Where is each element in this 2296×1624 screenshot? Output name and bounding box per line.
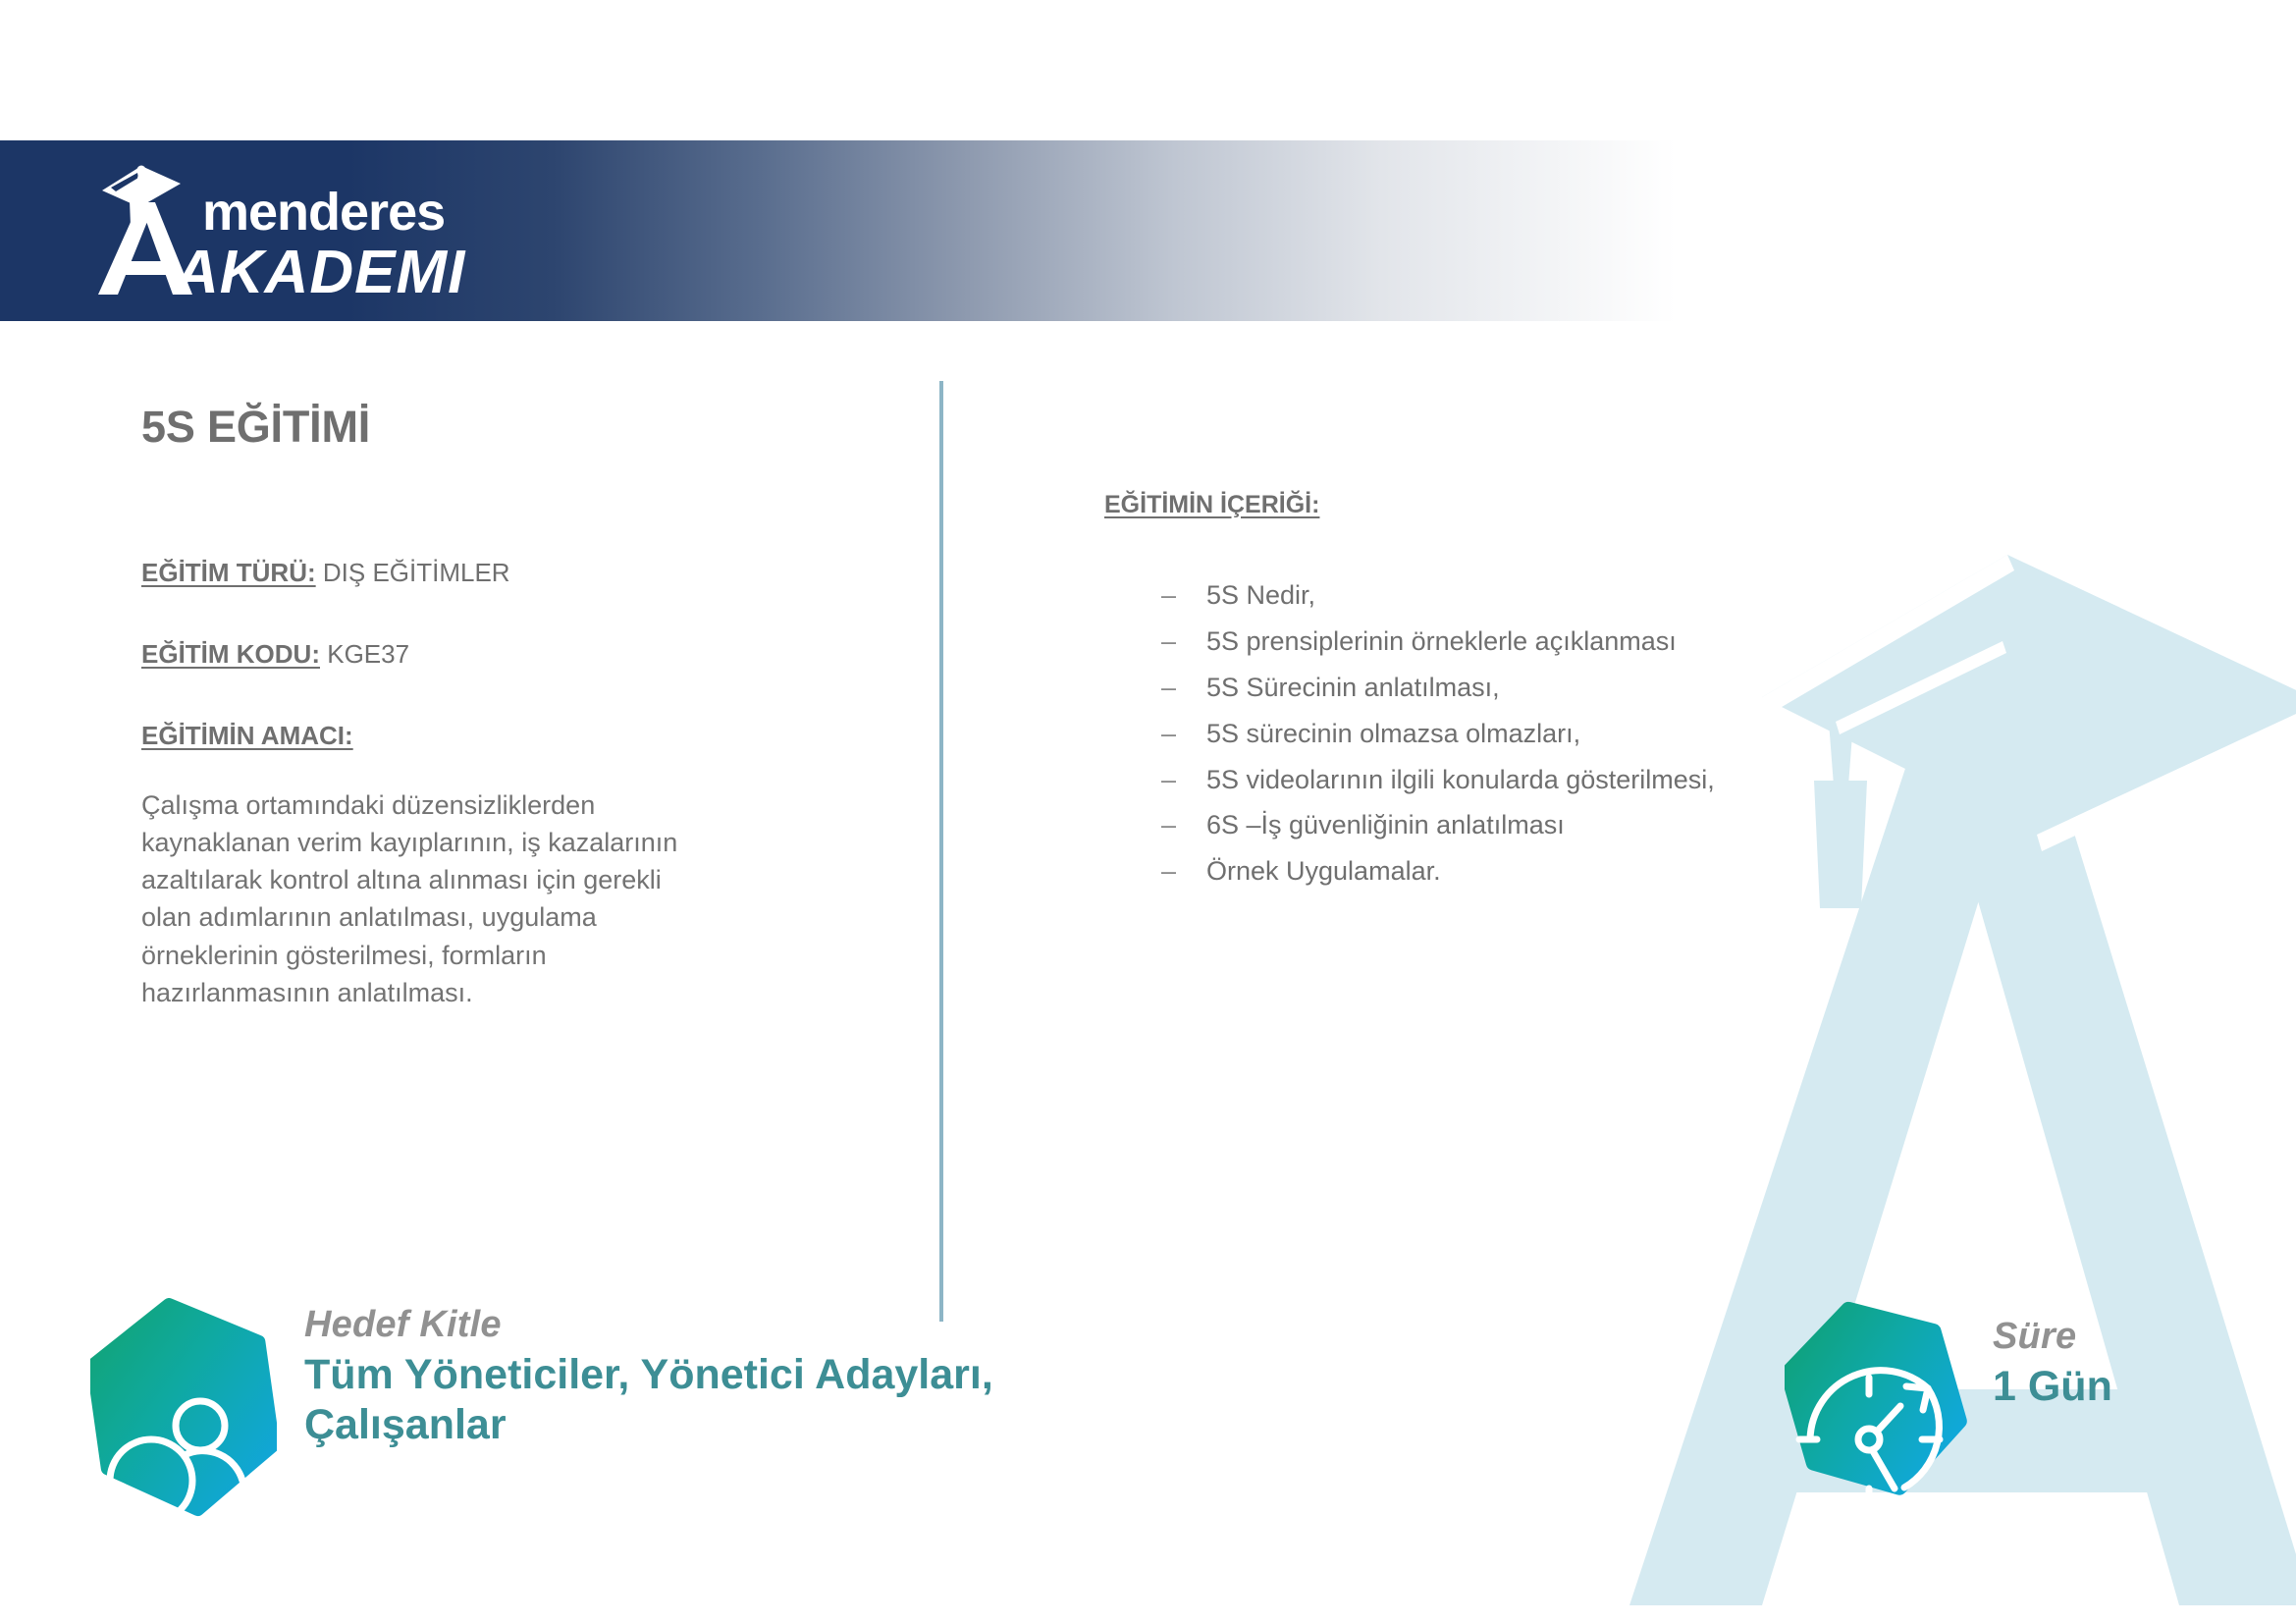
bullet-dash-icon: – xyxy=(1161,761,1176,799)
training-code-label: EĞİTİM KODU: xyxy=(141,639,320,669)
list-item-label: 5S Sürecinin anlatılması, xyxy=(1206,673,1500,702)
duration-text: Süre 1 Gün xyxy=(1993,1316,2112,1412)
list-item: –5S prensiplerinin örneklerle açıklanmas… xyxy=(1104,623,1988,661)
spacer xyxy=(141,588,819,639)
audience-text: Hedef Kitle Tüm Yöneticiler, Yönetici Ad… xyxy=(304,1304,1070,1451)
people-icon xyxy=(90,1298,277,1527)
training-code-row: EĞİTİM KODU: KGE37 xyxy=(141,639,819,670)
bullet-dash-icon: – xyxy=(1161,806,1176,844)
training-type-value: DIŞ EĞİTİMLER xyxy=(323,558,510,587)
list-item-label: 5S sürecinin olmazsa olmazları, xyxy=(1206,719,1580,748)
people-hexagon-svg xyxy=(90,1298,277,1522)
duration-block: Süre 1 Gün xyxy=(1785,1296,2112,1519)
list-item: –6S –İş güvenliğinin anlatılması xyxy=(1104,806,1988,844)
bullet-dash-icon: – xyxy=(1161,576,1176,615)
spacer xyxy=(141,670,819,721)
list-item-label: Örnek Uygulamalar. xyxy=(1206,856,1441,886)
document-page: menderes AKADEMI xyxy=(0,0,2296,1624)
logo-svg: menderes AKADEMI xyxy=(77,147,567,314)
purpose-text: Çalışma ortamındaki düzensizliklerden ka… xyxy=(141,786,691,1012)
column-divider xyxy=(939,381,943,1322)
training-code-value: KGE37 xyxy=(327,639,409,669)
list-item: –5S Sürecinin anlatılması, xyxy=(1104,669,1988,707)
list-item-label: 6S –İş güvenliğinin anlatılması xyxy=(1206,810,1565,839)
logo-word-top: menderes xyxy=(202,183,445,242)
duration-caption: Süre xyxy=(1993,1316,2112,1358)
clock-hexagon-svg xyxy=(1785,1296,1967,1514)
duration-value: 1 Gün xyxy=(1993,1362,2112,1413)
list-item-label: 5S prensiplerinin örneklerle açıklanması xyxy=(1206,626,1677,656)
list-item: –Örnek Uygulamalar. xyxy=(1104,852,1988,891)
list-item: –5S videolarının ilgili konularda göster… xyxy=(1104,761,1988,799)
content-label: EĞİTİMİN İÇERİĞİ: xyxy=(1104,491,1988,519)
list-item: –5S sürecinin olmazsa olmazları, xyxy=(1104,715,1988,753)
clock-icon xyxy=(1785,1296,1967,1519)
audience-caption: Hedef Kitle xyxy=(304,1304,1070,1346)
brand-logo: menderes AKADEMI xyxy=(77,147,567,314)
content-list: –5S Nedir, –5S prensiplerinin örneklerle… xyxy=(1104,576,1988,891)
logo-word-bottom: AKADEMI xyxy=(173,239,466,306)
bullet-dash-icon: – xyxy=(1161,669,1176,707)
training-type-row: EĞİTİM TÜRÜ: DIŞ EĞİTİMLER xyxy=(141,558,819,588)
bullet-dash-icon: – xyxy=(1161,623,1176,661)
bullet-dash-icon: – xyxy=(1161,852,1176,891)
spacer xyxy=(141,452,819,558)
list-item-label: 5S videolarının ilgili konularda gösteri… xyxy=(1206,765,1715,794)
list-item-label: 5S Nedir, xyxy=(1206,580,1315,610)
page-title: 5S EĞİTİMİ xyxy=(141,403,819,452)
audience-block: Hedef Kitle Tüm Yöneticiler, Yönetici Ad… xyxy=(90,1298,1070,1527)
bullet-dash-icon: – xyxy=(1161,715,1176,753)
left-column: 5S EĞİTİMİ EĞİTİM TÜRÜ: DIŞ EĞİTİMLER EĞ… xyxy=(141,403,819,1038)
training-type-label: EĞİTİM TÜRÜ: xyxy=(141,558,316,587)
list-item: –5S Nedir, xyxy=(1104,576,1988,615)
audience-value: Tüm Yöneticiler, Yönetici Adayları, Çalı… xyxy=(304,1350,1070,1451)
right-column: EĞİTİMİN İÇERİĞİ: –5S Nedir, –5S prensip… xyxy=(1104,491,1988,898)
purpose-label: EĞİTİMİN AMACI: xyxy=(141,721,819,751)
